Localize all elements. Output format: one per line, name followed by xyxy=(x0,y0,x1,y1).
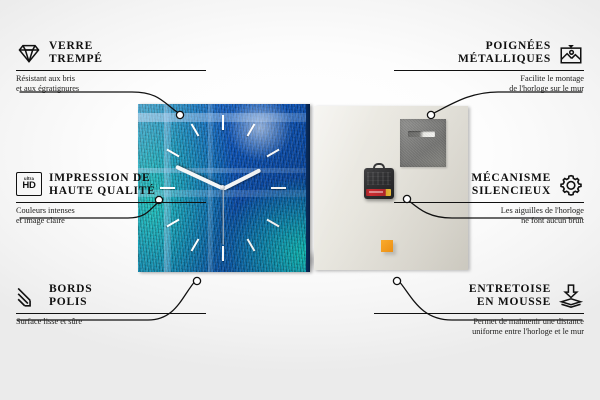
feature-subtitle: Les aiguilles de l'horlogene font aucun … xyxy=(394,206,584,227)
feature-divider xyxy=(16,202,206,203)
feature-subtitle: Résistant aux briset aux égratignures xyxy=(16,74,206,95)
feature-header: BORDSPOLIS xyxy=(16,283,206,309)
feature-subtitle: Permet de maintenir une distanceuniforme… xyxy=(374,317,584,338)
feature-subtitle: Surface lisse et sûre xyxy=(16,317,206,327)
feature-poignees-metalliques: POIGNÉESMÉTALLIQUES Facilite le montaged… xyxy=(394,40,584,95)
feature-title: BORDSPOLIS xyxy=(49,283,92,309)
feature-title: VERRETREMPÉ xyxy=(49,40,103,66)
gear-icon xyxy=(558,172,584,198)
feature-impression-haute-qualite: ultra HD IMPRESSION DEHAUTE QUALITÉ Coul… xyxy=(16,172,206,227)
feature-subtitle: Couleurs intenseset image claire xyxy=(16,206,206,227)
feature-title: IMPRESSION DEHAUTE QUALITÉ xyxy=(49,172,156,198)
hanging-frame-icon xyxy=(558,40,584,66)
feature-divider xyxy=(374,313,584,314)
ultra-hd-badge-icon: ultra HD xyxy=(16,172,42,198)
polished-edges-icon xyxy=(16,283,42,309)
feature-header: POIGNÉESMÉTALLIQUES xyxy=(394,40,584,66)
product-feature-infographic: VERRETREMPÉ Résistant aux briset aux égr… xyxy=(0,0,600,400)
feature-divider xyxy=(16,313,206,314)
feature-header: ENTRETOISEEN MOUSSE xyxy=(374,283,584,309)
feature-title: POIGNÉESMÉTALLIQUES xyxy=(458,40,551,66)
feature-title: ENTRETOISEEN MOUSSE xyxy=(469,283,551,309)
feature-bords-polis: BORDSPOLIS Surface lisse et sûre xyxy=(16,283,206,327)
feature-header: MÉCANISMESILENCIEUX xyxy=(394,172,584,198)
feature-entretoise-en-mousse: ENTRETOISEEN MOUSSE Permet de maintenir … xyxy=(374,283,584,338)
feature-subtitle: Facilite le montagede l'horloge sur le m… xyxy=(394,74,584,95)
glass-polished-edge xyxy=(306,104,310,272)
foam-spacer-arrow-icon xyxy=(558,283,584,309)
feature-divider xyxy=(394,70,584,71)
feature-verre-trempe: VERRETREMPÉ Résistant aux briset aux égr… xyxy=(16,40,206,95)
diamond-icon xyxy=(16,40,42,66)
feature-divider xyxy=(16,70,206,71)
feature-header: VERRETREMPÉ xyxy=(16,40,206,66)
feature-mecanisme-silencieux: MÉCANISMESILENCIEUX Les aiguilles de l'h… xyxy=(394,172,584,227)
feature-divider xyxy=(394,202,584,203)
feature-header: ultra HD IMPRESSION DEHAUTE QUALITÉ xyxy=(16,172,206,198)
ultra-hd-badge-bottom-text: HD xyxy=(22,181,35,191)
feature-title: MÉCANISMESILENCIEUX xyxy=(471,172,551,198)
